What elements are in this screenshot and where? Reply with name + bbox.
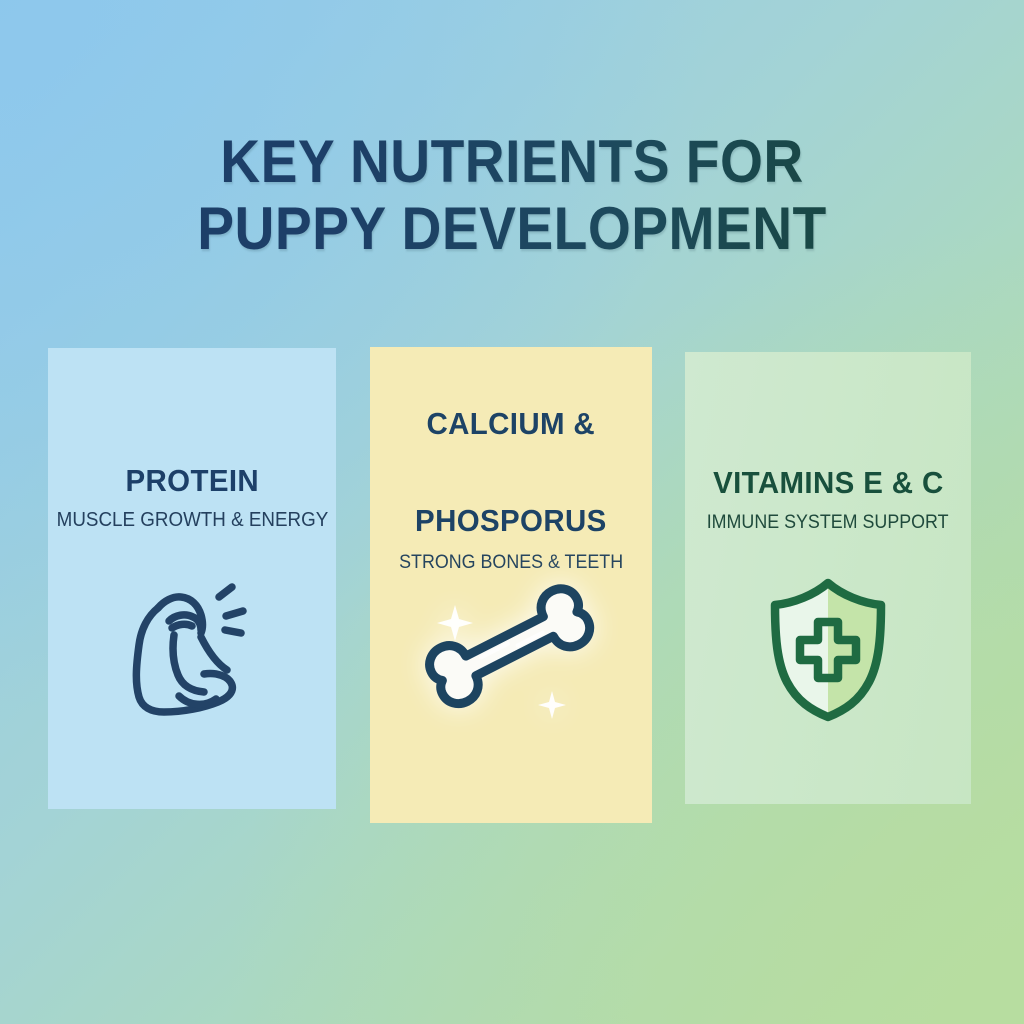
nutrient-card-vitamins: VITAMINS E & C IMMUNE SYSTEM SUPPORT [685, 352, 971, 804]
page-title: KEY NUTRIENTS FOR PUPPY DEVELOPMENT [0, 128, 1024, 262]
shield-medical-cross-icon [761, 574, 896, 729]
nutrient-card-protein: PROTEIN MUSCLE GROWTH & ENERGY [48, 348, 336, 809]
infographic-canvas: KEY NUTRIENTS FOR PUPPY DEVELOPMENT PROT… [0, 0, 1024, 1024]
title-line-1: KEY NUTRIENTS FOR [41, 128, 983, 195]
title-line-2: PUPPY DEVELOPMENT [41, 195, 983, 262]
icon-container-calcium [419, 575, 604, 725]
card-heading-calcium-line-2: PHOSPORUS [415, 500, 607, 541]
card-subtitle-calcium: STRONG BONES & TEETH [399, 551, 623, 575]
bone-icon [419, 575, 604, 725]
card-subtitle-protein: MUSCLE GROWTH & ENERGY [56, 508, 328, 532]
nutrient-card-calcium: CALCIUM & PHOSPORUS STRONG BONES & TEETH [370, 347, 652, 823]
icon-container-protein [117, 577, 267, 727]
flexed-bicep-icon [117, 575, 267, 730]
card-subtitle-vitamins: IMMUNE SYSTEM SUPPORT [707, 511, 949, 535]
icon-container-vitamins [761, 576, 896, 726]
card-heading-protein: PROTEIN [125, 464, 259, 498]
card-heading-calcium-line-1: CALCIUM & [427, 403, 596, 444]
card-heading-vitamins: VITAMINS E & C [713, 466, 944, 500]
